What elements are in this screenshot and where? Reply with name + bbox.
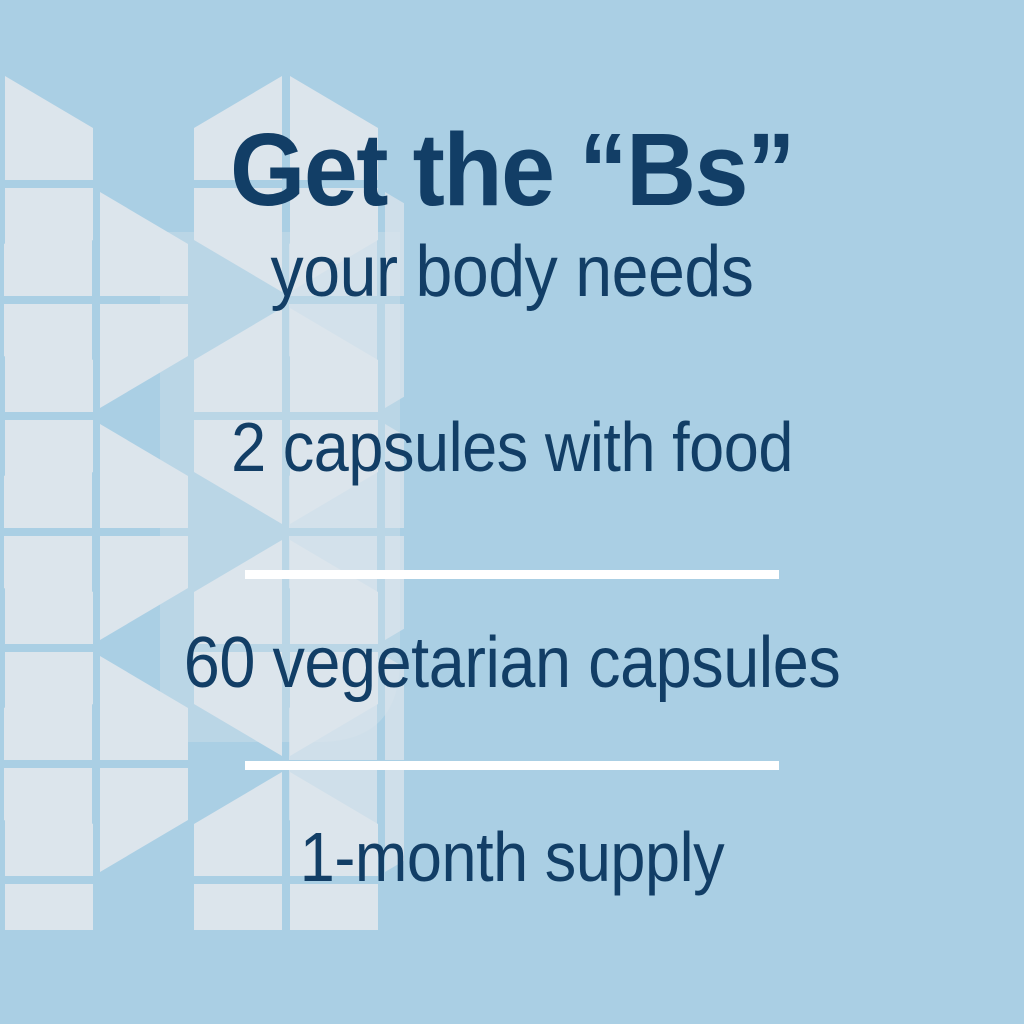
divider-bottom <box>245 761 779 770</box>
panel-content: Get the “Bs” your body needs 2 capsules … <box>0 0 1024 1024</box>
fact-supply: 1-month supply <box>51 822 973 892</box>
page-subtitle: your body needs <box>41 236 983 308</box>
page-title: Get the “Bs” <box>31 118 994 221</box>
fact-count: 60 vegetarian capsules <box>51 627 973 699</box>
product-info-panel: Get the “Bs” your body needs 2 capsules … <box>0 0 1024 1024</box>
fact-dosage: 2 capsules with food <box>51 412 973 482</box>
divider-top <box>245 570 779 579</box>
